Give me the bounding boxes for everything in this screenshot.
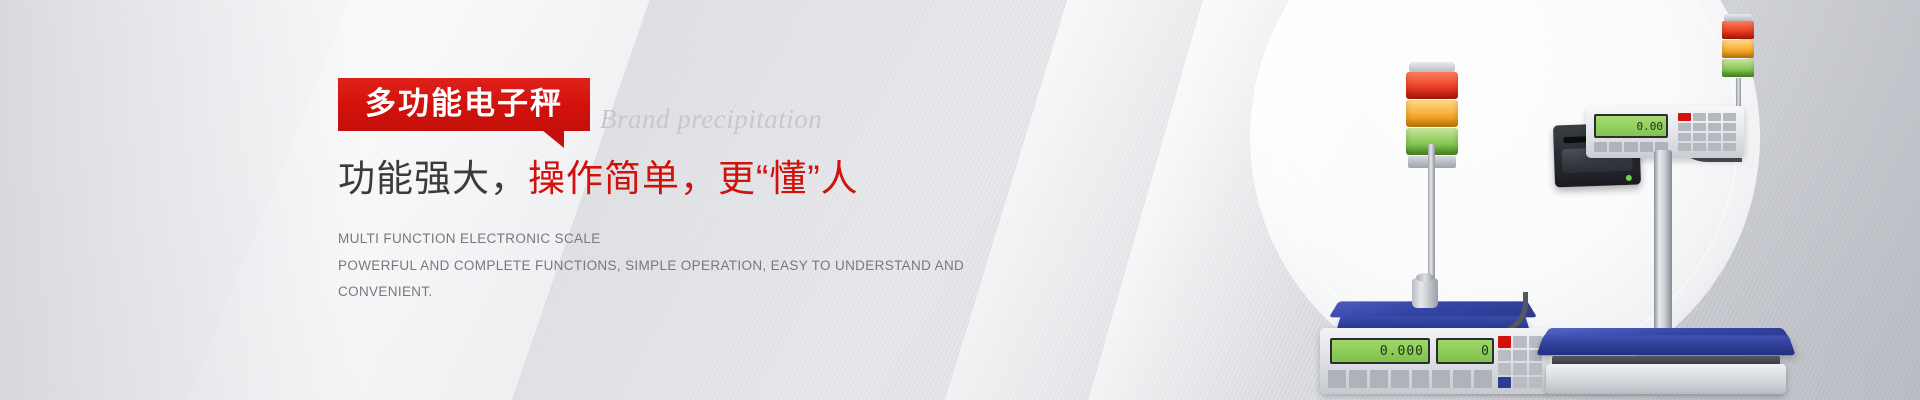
badge-label: 多功能电子秤 xyxy=(360,85,568,122)
tower-light-pole xyxy=(1428,144,1435,294)
printer-status-led xyxy=(1626,175,1632,181)
badge-row: 多功能电子秤 Brand precipitation xyxy=(338,78,958,146)
mini-tower-light-red xyxy=(1722,21,1754,39)
brand-tagline-script: Brand precipitation xyxy=(600,104,822,135)
product-tower-light-scale: 0.000 0 xyxy=(1320,64,1550,394)
product-category-badge: 多功能电子秤 xyxy=(338,78,590,131)
mini-tower-light-amber xyxy=(1722,40,1754,58)
scale-b-platter xyxy=(1536,335,1795,355)
headline: 功能强大，操作简单，更“懂”人 xyxy=(338,154,958,204)
mini-tower-light-pole xyxy=(1736,78,1741,108)
product-imagery: 0.000 0 xyxy=(1040,0,1920,400)
product-printer-column-scale: 0.00 xyxy=(1540,34,1800,394)
promo-banner: 多功能电子秤 Brand precipitation 功能强大，操作简单，更“懂… xyxy=(0,0,1920,400)
subtext-line-3: CONVENIENT. xyxy=(338,279,958,306)
scale-b-primary-display: 0.00 xyxy=(1594,114,1668,138)
tower-light-cap xyxy=(1409,62,1455,72)
badge-tail-pointer xyxy=(542,130,564,148)
background-vignette-left xyxy=(0,0,360,400)
banner-copy: 多功能电子秤 Brand precipitation 功能强大，操作简单，更“懂… xyxy=(338,78,958,306)
tower-light-red xyxy=(1406,72,1458,99)
scale-a-body: 0.000 0 xyxy=(1320,328,1548,394)
scale-b-base xyxy=(1546,364,1786,394)
subtext-line-2: POWERFUL AND COMPLETE FUNCTIONS, SIMPLE … xyxy=(338,253,958,280)
headline-part-red: 操作简单，更“懂”人 xyxy=(528,158,859,199)
scale-a-secondary-display: 0 xyxy=(1436,338,1494,364)
headline-part-dark: 功能强大， xyxy=(338,158,528,199)
scale-a-function-keys xyxy=(1328,370,1492,388)
tower-light-amber xyxy=(1406,100,1458,127)
subtext-line-1: MULTI FUNCTION ELECTRONIC SCALE xyxy=(338,226,958,253)
scale-a-primary-display: 0.000 xyxy=(1330,338,1430,364)
subtext-block: MULTI FUNCTION ELECTRONIC SCALE POWERFUL… xyxy=(338,226,958,306)
mini-tower-light-stack xyxy=(1722,14,1754,80)
scale-b-keypad xyxy=(1678,113,1736,151)
scale-a-keypad xyxy=(1498,336,1542,388)
scale-b-column xyxy=(1654,150,1672,336)
mini-tower-light-cap xyxy=(1724,14,1752,21)
mini-tower-light-green xyxy=(1722,59,1754,77)
